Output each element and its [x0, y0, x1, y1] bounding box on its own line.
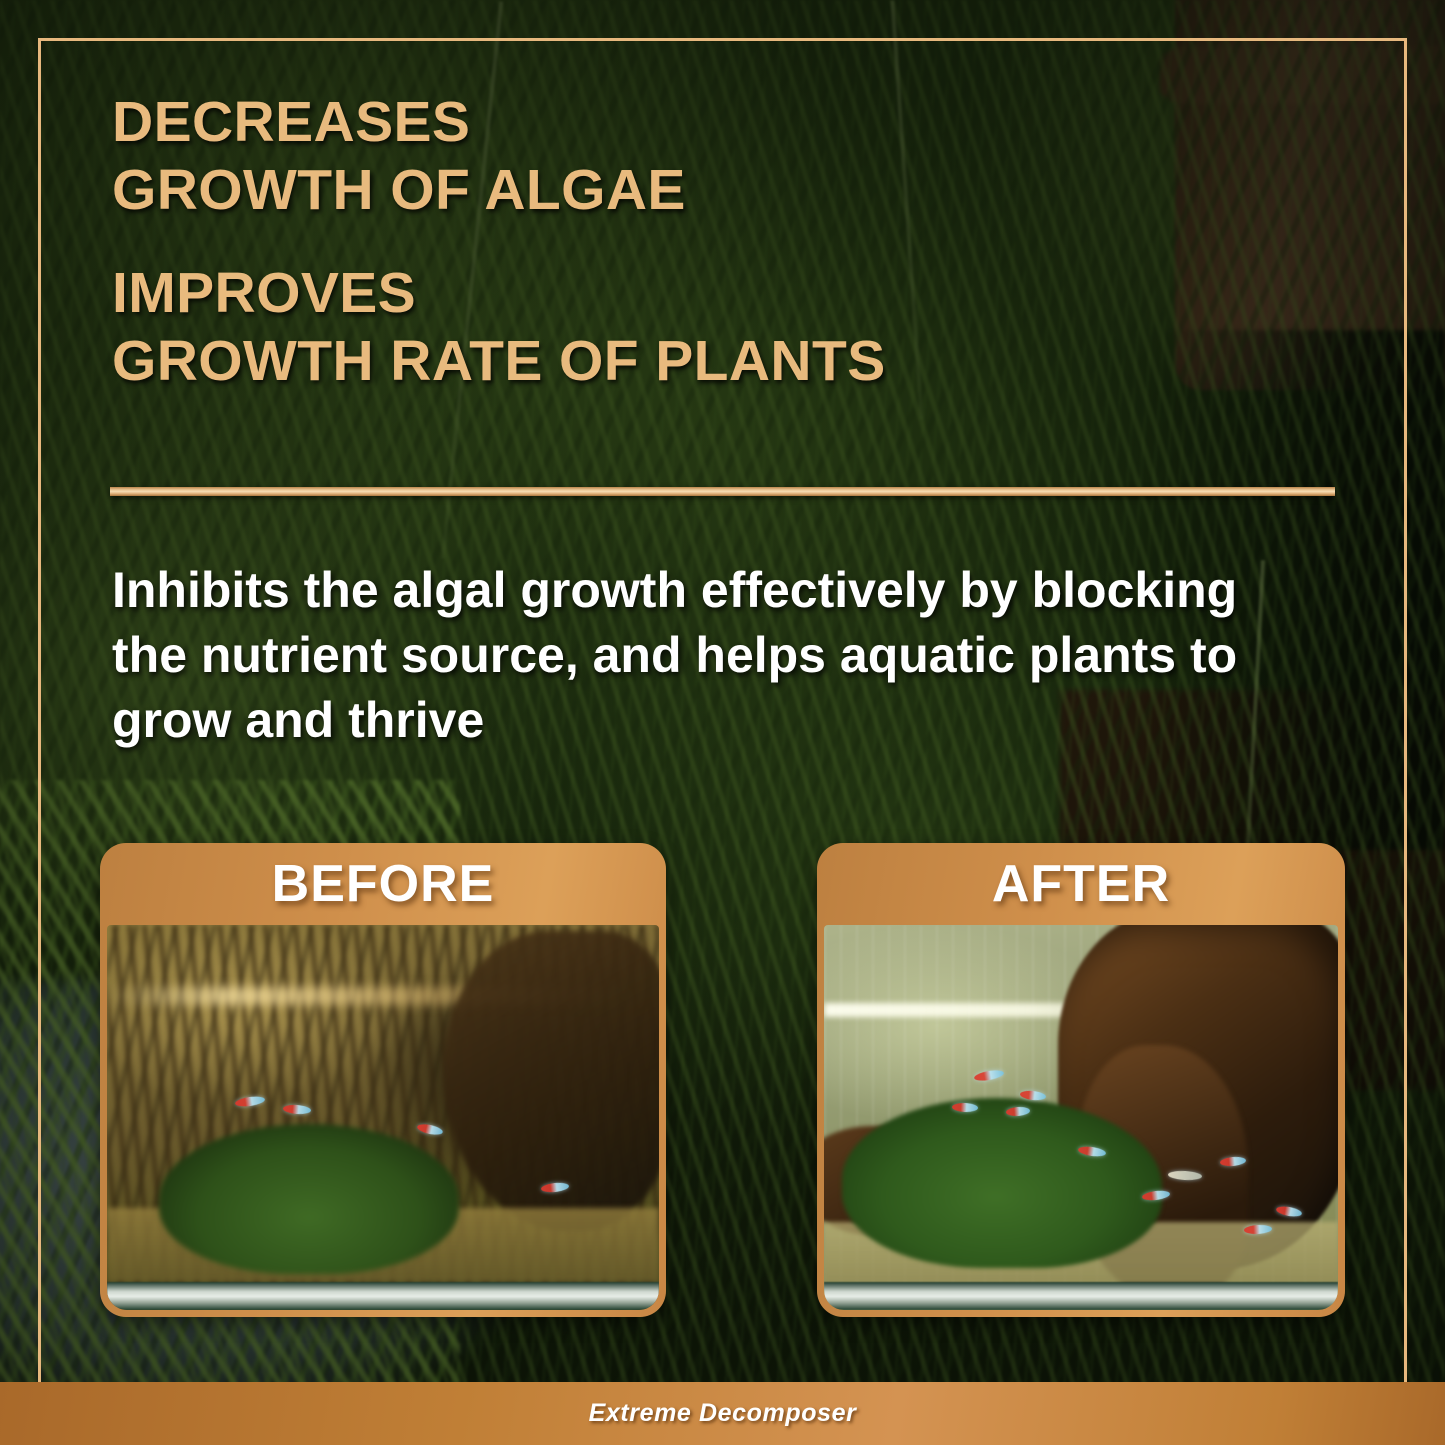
- before-aquarium-photo: [107, 925, 659, 1310]
- gold-divider: [110, 487, 1335, 496]
- tank-bottom-rim: [824, 1282, 1338, 1310]
- after-label: AFTER: [824, 843, 1338, 925]
- plant-bush: [159, 1124, 459, 1274]
- headline-line-2: GROWTH OF ALGAE: [112, 156, 1262, 224]
- headline-block-plants: IMPROVES GROWTH RATE OF PLANTS: [112, 259, 1262, 396]
- page-title: DECREASES GROWTH OF ALGAE IMPROVES GROWT…: [112, 88, 1262, 396]
- before-card: BEFORE: [100, 843, 666, 1317]
- body-description: Inhibits the algal growth effectively by…: [112, 558, 1302, 753]
- headline-line-1: DECREASES: [112, 88, 1262, 156]
- moss-bush: [842, 1098, 1162, 1268]
- footer-bar: Extreme Decomposer: [0, 1382, 1445, 1445]
- headline-line-4: GROWTH RATE OF PLANTS: [112, 327, 1262, 395]
- headline-block-algae: DECREASES GROWTH OF ALGAE: [112, 88, 1262, 225]
- after-aquarium-photo: [824, 925, 1338, 1310]
- after-card: AFTER: [817, 843, 1345, 1317]
- product-infographic-poster: DECREASES GROWTH OF ALGAE IMPROVES GROWT…: [0, 0, 1445, 1445]
- tank-bottom-rim: [107, 1282, 659, 1310]
- product-name: Extreme Decomposer: [589, 1399, 857, 1428]
- before-label: BEFORE: [107, 843, 659, 925]
- headline-line-3: IMPROVES: [112, 259, 1262, 327]
- before-after-comparison: BEFORE VS AFTER: [0, 843, 1445, 1323]
